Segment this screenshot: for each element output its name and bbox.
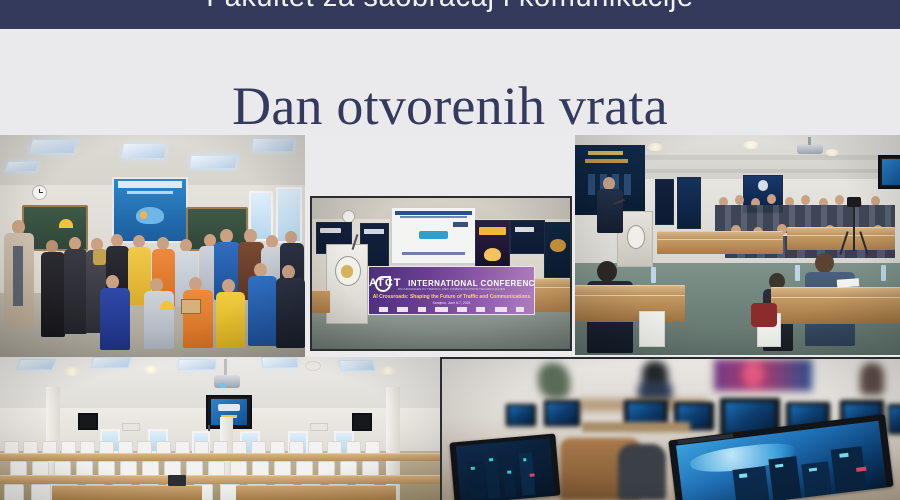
banner-subtitle: ON ADVANCES IN TRAFFIC AND COMMUNICATION… — [369, 287, 534, 291]
banner-theme: AI Crossroads: Shaping the Future of Tra… — [369, 294, 534, 300]
scene-amphitheatre-empty — [0, 357, 443, 500]
faculty-name-text: Fakultet za saobraćaj i komunikacije — [0, 0, 900, 14]
photo-conference-audience — [575, 135, 900, 355]
photo-amphitheatre-empty — [0, 357, 443, 500]
photo-computer-lab — [440, 357, 900, 500]
poster-canvas: Fakultet za saobraćaj i komunikacije Dan… — [0, 0, 900, 500]
scene-lecture-hall-group — [0, 135, 305, 360]
scene-computer-lab — [442, 359, 900, 500]
scene-amphitheatre-audience — [575, 135, 900, 355]
photo-conference-stage: ATCT INTERNATIONAL CONFERENCE ON ADVANCE… — [310, 196, 572, 351]
faculty-band: Fakultet za saobraćaj i komunikacije — [0, 0, 900, 29]
photo-group-photo — [0, 135, 305, 360]
banner-date: Sarajevo, June 6-7, 2024 — [369, 301, 534, 305]
conference-banner: ATCT INTERNATIONAL CONFERENCE ON ADVANCE… — [368, 266, 535, 315]
title-band: Dan otvorenih vrata — [0, 29, 900, 135]
page-title: Dan otvorenih vrata — [0, 75, 900, 137]
scene-conference-stage: ATCT INTERNATIONAL CONFERENCE ON ADVANCE… — [312, 198, 570, 349]
